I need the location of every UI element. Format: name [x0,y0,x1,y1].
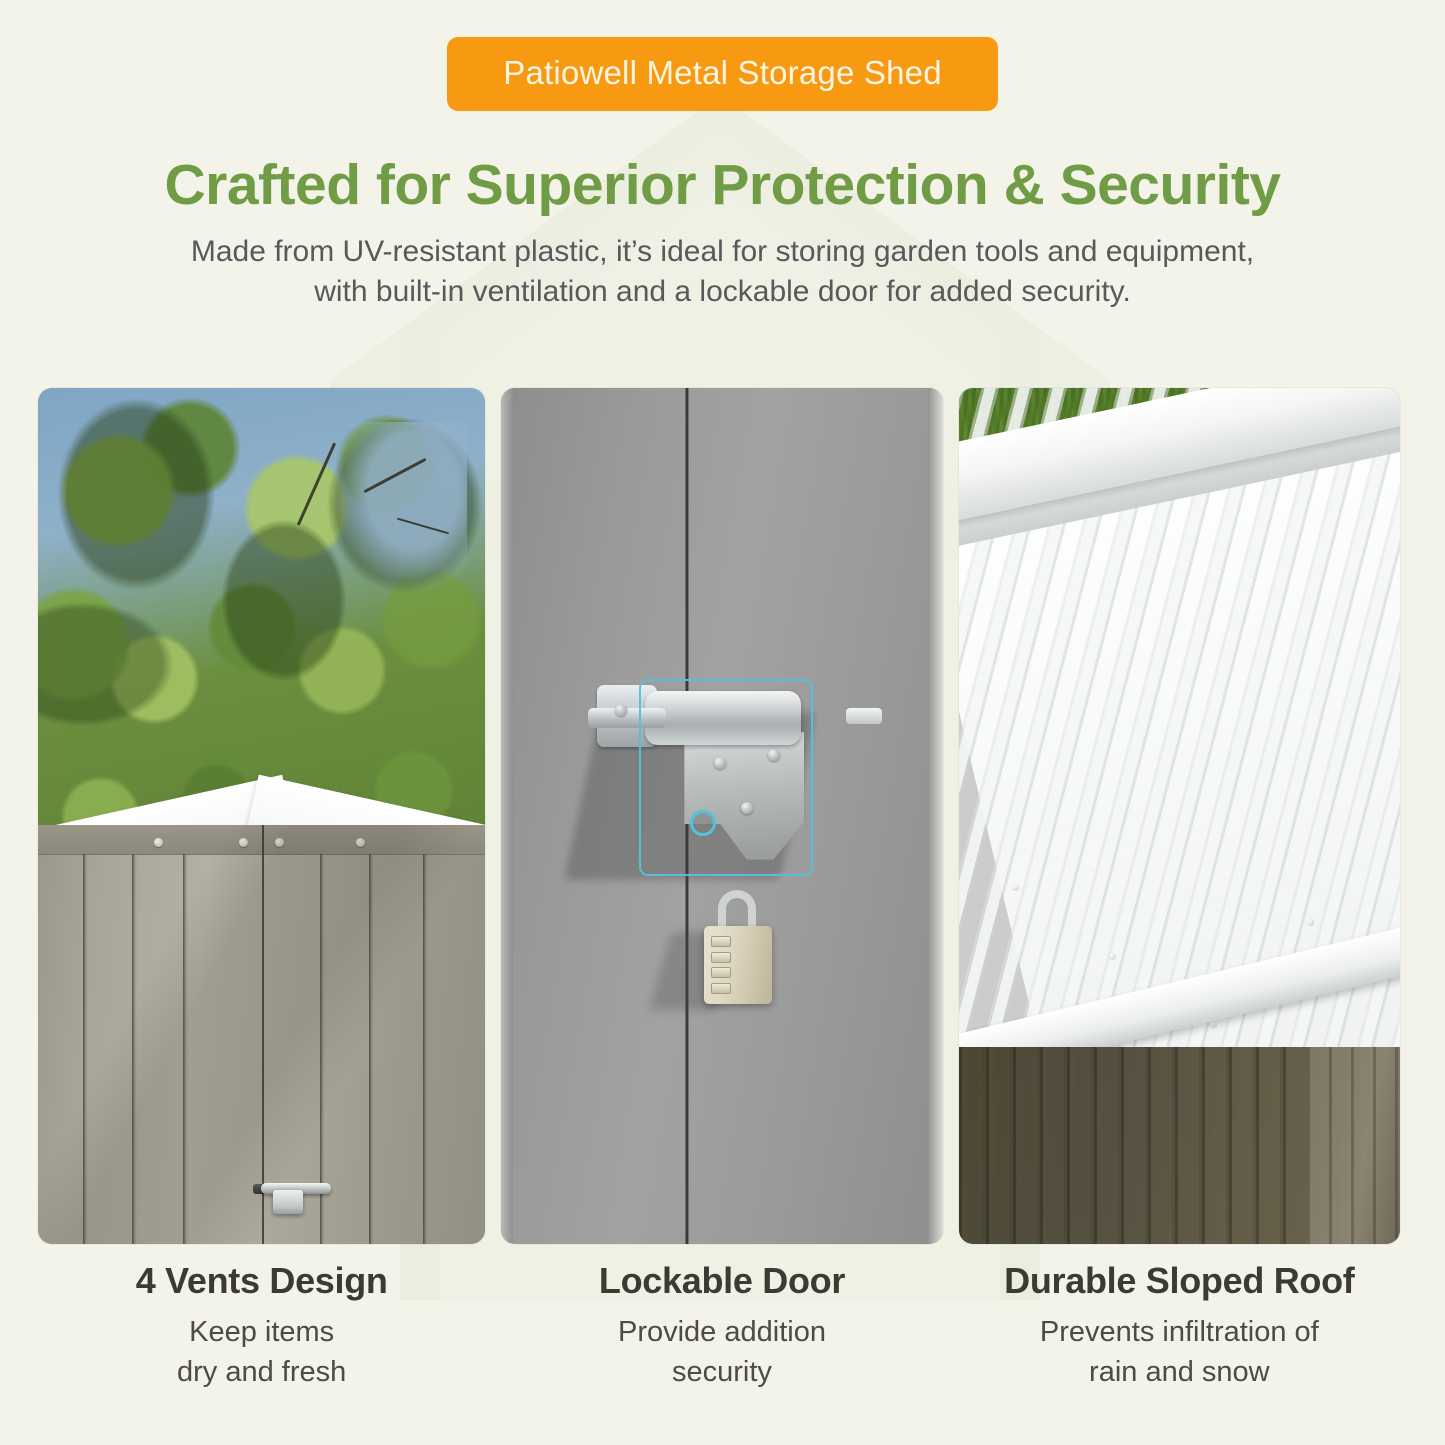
caption-subtext-line-1: Prevents infiltration of [959,1312,1400,1352]
sky-patch [333,422,467,593]
caption-title: Durable Sloped Roof [959,1260,1400,1302]
page-subtitle: Made from UV-resistant plastic, it’s ide… [0,232,1445,312]
feature-caption-row: 4 Vents Design Keep items dry and fresh … [38,1260,1400,1392]
caption-subtext-line-2: rain and snow [959,1352,1400,1392]
door-edge-right [928,388,943,1244]
padlock-dial [711,967,731,978]
latch-highlight-outline [639,679,813,876]
padlock-dial [711,952,731,963]
page-headline: Crafted for Superior Protection & Securi… [0,152,1445,218]
door-handle-latch [253,1177,337,1215]
roof-screw-icon [1307,919,1314,926]
caption-title: 4 Vents Design [38,1260,485,1302]
latch-screw-icon [615,704,627,716]
shed-doors-lower [38,825,485,1244]
caption-subtext-line-1: Keep items [38,1312,485,1352]
product-badge: Patiowell Metal Storage Shed [447,37,998,111]
caption-subtext: Provide addition security [501,1312,942,1392]
door-edge-left [501,388,512,1244]
feature-caption-lock: Lockable Door Provide addition security [501,1260,942,1392]
combination-padlock [704,910,772,1006]
feature-caption-vents: 4 Vents Design Keep items dry and fresh [38,1260,485,1392]
caption-subtext-line-2: security [501,1352,942,1392]
feature-caption-roof: Durable Sloped Roof Prevents infiltratio… [959,1260,1400,1392]
bolt-rod-right [846,708,882,724]
caption-subtext: Prevents infiltration of rain and snow [959,1312,1400,1392]
feature-image-row [38,388,1400,1244]
caption-subtext: Keep items dry and fresh [38,1312,485,1392]
padlock-dial [711,936,731,947]
caption-title: Lockable Door [501,1260,942,1302]
roof-screw-icon [1109,953,1116,960]
padlock-body [704,926,772,1004]
subtitle-line-2: with built-in ventilation and a lockable… [0,272,1445,312]
feature-image-lock [501,388,942,1244]
feature-image-roof [959,388,1400,1244]
shed-wall-side [1307,1047,1400,1244]
feature-image-vents [38,388,485,1244]
padlock-shackle-icon [718,890,756,930]
padlock-dials [711,936,731,994]
caption-subtext-line-2: dry and fresh [38,1352,485,1392]
handle-base [273,1190,303,1214]
subtitle-line-1: Made from UV-resistant plastic, it’s ide… [0,232,1445,272]
caption-subtext-line-1: Provide addition [501,1312,942,1352]
padlock-dial [711,983,731,994]
product-badge-container: Patiowell Metal Storage Shed [0,37,1445,111]
slide-bolt-latch-assembly [576,675,876,880]
